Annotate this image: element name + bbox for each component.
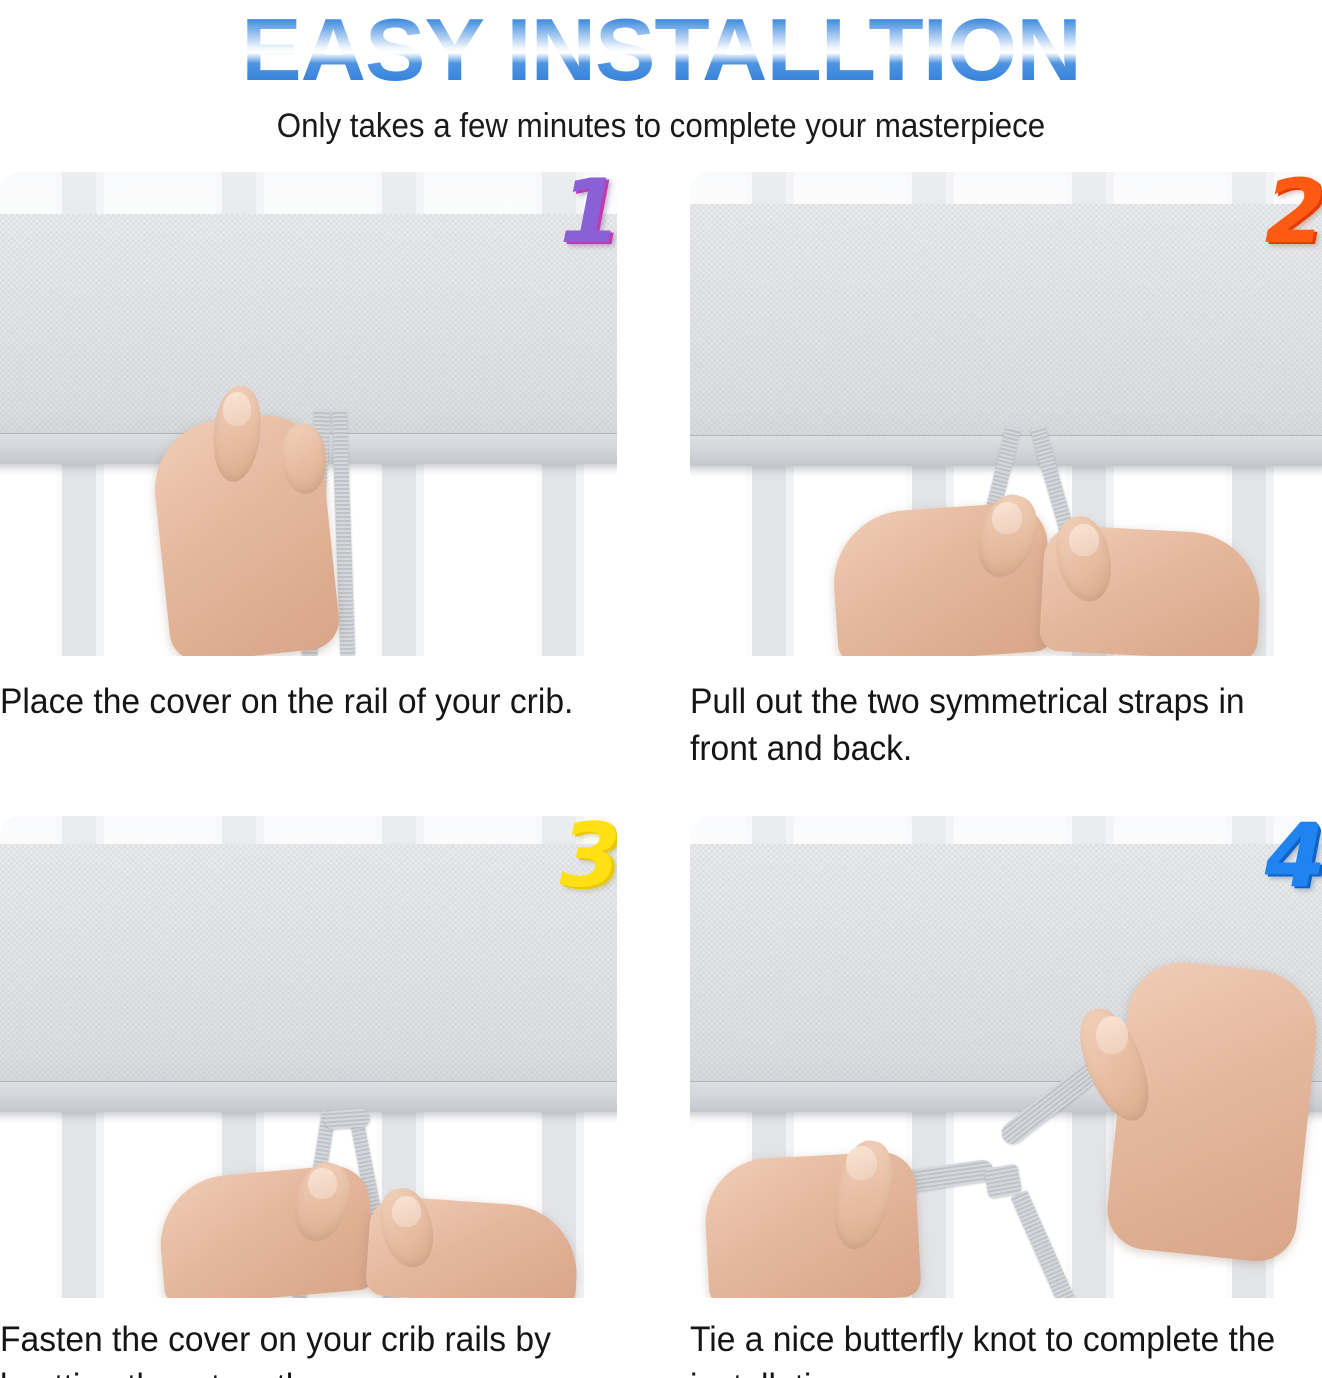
step-caption-3: Fasten the cover on your crib rails by k… xyxy=(0,1316,592,1378)
right-finger-nail xyxy=(392,1196,421,1227)
rail-cover-fabric xyxy=(0,844,617,1112)
step-photo-4: 4 xyxy=(690,816,1322,1298)
header: EASY INSTALLTION Only takes a few minute… xyxy=(0,0,1322,146)
step-card-2: 2 Pull out the two symmetrical straps in… xyxy=(690,172,1322,772)
step-number-badge-2: 2 xyxy=(1265,172,1322,256)
step-photo-2: 2 xyxy=(690,172,1322,656)
right-thumb-nail xyxy=(1096,1016,1128,1054)
bow-center-knot xyxy=(984,1163,1023,1198)
left-finger-nail xyxy=(308,1168,337,1199)
step-number-badge-4: 4 xyxy=(1265,816,1322,900)
step-caption-1: Place the cover on the rail of your crib… xyxy=(0,678,592,725)
step-caption-2: Pull out the two symmetrical straps in f… xyxy=(690,678,1297,772)
step-photo-3: 3 xyxy=(0,816,617,1298)
strap-knot-loop xyxy=(323,1108,370,1129)
steps-grid: 1 Place the cover on the rail of your cr… xyxy=(0,172,1322,1378)
page-subtitle: Only takes a few minutes to complete you… xyxy=(53,106,1269,146)
thumb-nail xyxy=(223,392,251,426)
step-photo-1: 1 xyxy=(0,172,617,656)
step-number-badge-1: 1 xyxy=(560,172,617,256)
page-title: EASY INSTALLTION xyxy=(0,2,1322,98)
right-thumb-nail xyxy=(1069,524,1099,556)
step-card-4: 4 Tie a nice butterfly knot to complete … xyxy=(690,816,1322,1378)
left-thumb-nail xyxy=(846,1146,877,1180)
instruction-sheet: EASY INSTALLTION Only takes a few minute… xyxy=(0,0,1322,1378)
step-caption-4: Tie a nice butterfly knot to complete th… xyxy=(690,1316,1297,1378)
step-number-badge-3: 3 xyxy=(560,816,617,900)
step-card-3: 3 Fasten the cover on your crib rails by… xyxy=(0,816,617,1378)
left-thumb-nail xyxy=(992,502,1022,534)
step-card-1: 1 Place the cover on the rail of your cr… xyxy=(0,172,617,772)
